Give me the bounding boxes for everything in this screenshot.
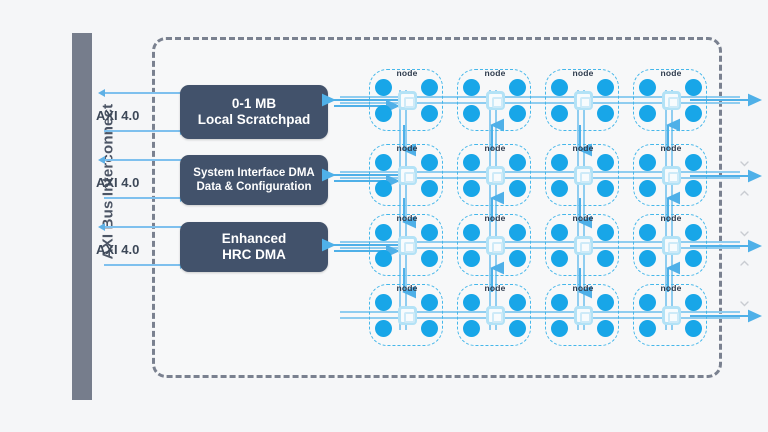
node-cluster-r4c4[interactable]: node bbox=[633, 284, 707, 346]
node-dot bbox=[421, 180, 438, 197]
node-cluster-r1c1[interactable]: node bbox=[369, 69, 443, 131]
node-dot bbox=[639, 224, 656, 241]
node-label: node bbox=[634, 283, 708, 293]
axi-3-label: AXI 4.0 bbox=[96, 242, 168, 257]
node-dot bbox=[509, 224, 526, 241]
node-hub-icon bbox=[486, 91, 505, 110]
node-hub-icon bbox=[662, 236, 681, 255]
node-cluster-r1c4[interactable]: node bbox=[633, 69, 707, 131]
node-cluster-r2c3[interactable]: node bbox=[545, 144, 619, 206]
node-label: node bbox=[458, 143, 532, 153]
node-dot bbox=[685, 180, 702, 197]
node-hub-icon bbox=[662, 91, 681, 110]
node-dot bbox=[597, 180, 614, 197]
node-hub-icon bbox=[398, 166, 417, 185]
block-1-line2: Local Scratchpad bbox=[198, 112, 311, 128]
node-dot bbox=[597, 224, 614, 241]
node-label: node bbox=[458, 283, 532, 293]
node-cluster-r2c1[interactable]: node bbox=[369, 144, 443, 206]
node-dot bbox=[597, 79, 614, 96]
node-cluster-r2c2[interactable]: node bbox=[457, 144, 531, 206]
block-2-line1: System Interface DMA bbox=[193, 166, 314, 180]
node-dot bbox=[551, 79, 568, 96]
axi-3-inbound-line bbox=[104, 226, 182, 228]
node-hub-icon bbox=[662, 306, 681, 325]
node-cluster-r3c1[interactable]: node bbox=[369, 214, 443, 276]
axi-2-outbound-line bbox=[104, 197, 182, 199]
diagram-canvas: AXI Bus Interconnect AXI 4.0 AXI 4.0 AXI… bbox=[0, 0, 768, 432]
block-enhanced-hrc-dma[interactable]: Enhanced HRC DMA bbox=[180, 222, 328, 272]
node-label: node bbox=[546, 143, 620, 153]
node-dot bbox=[597, 105, 614, 122]
node-hub-icon bbox=[662, 166, 681, 185]
node-dot bbox=[509, 79, 526, 96]
chevron-up-icon-1[interactable] bbox=[739, 188, 750, 199]
node-label: node bbox=[370, 213, 444, 223]
node-dot bbox=[421, 105, 438, 122]
node-hub-icon bbox=[398, 91, 417, 110]
node-hub-icon bbox=[574, 166, 593, 185]
node-dot bbox=[639, 79, 656, 96]
node-cluster-r4c1[interactable]: node bbox=[369, 284, 443, 346]
node-label: node bbox=[546, 213, 620, 223]
node-label: node bbox=[634, 143, 708, 153]
block-1-line1: 0-1 MB bbox=[198, 96, 311, 112]
node-dot bbox=[685, 154, 702, 171]
node-label: node bbox=[546, 283, 620, 293]
block-3-line1: Enhanced bbox=[222, 231, 287, 247]
axi-3-outbound-line bbox=[104, 264, 182, 266]
node-dot bbox=[551, 105, 568, 122]
node-cluster-r1c3[interactable]: node bbox=[545, 69, 619, 131]
axi-2-inbound-line bbox=[104, 159, 182, 161]
chevron-up-icon-2[interactable] bbox=[739, 258, 750, 269]
node-dot bbox=[509, 154, 526, 171]
node-dot bbox=[375, 154, 392, 171]
node-cluster-r4c3[interactable]: node bbox=[545, 284, 619, 346]
node-dot bbox=[421, 79, 438, 96]
node-dot bbox=[421, 294, 438, 311]
axi-bus-interconnect-bar: AXI Bus Interconnect bbox=[72, 33, 92, 400]
node-dot bbox=[685, 294, 702, 311]
node-dot bbox=[421, 154, 438, 171]
node-dot bbox=[509, 320, 526, 337]
axi-1-inbound-arrowhead bbox=[98, 89, 105, 97]
node-label: node bbox=[370, 143, 444, 153]
node-dot bbox=[551, 320, 568, 337]
node-dot bbox=[551, 180, 568, 197]
node-dot bbox=[639, 154, 656, 171]
axi-1-label: AXI 4.0 bbox=[96, 108, 168, 123]
node-dot bbox=[509, 294, 526, 311]
axi-1-outbound-line bbox=[104, 130, 182, 132]
node-dot bbox=[375, 320, 392, 337]
node-cluster-r3c2[interactable]: node bbox=[457, 214, 531, 276]
block-local-scratchpad[interactable]: 0-1 MB Local Scratchpad bbox=[180, 85, 328, 139]
node-dot bbox=[639, 180, 656, 197]
axi-1-inbound-line bbox=[104, 92, 182, 94]
node-dot bbox=[551, 250, 568, 267]
node-dot bbox=[509, 250, 526, 267]
node-dot bbox=[463, 154, 480, 171]
node-dot bbox=[685, 250, 702, 267]
node-dot bbox=[509, 105, 526, 122]
node-hub-icon bbox=[398, 236, 417, 255]
node-cluster-r1c2[interactable]: node bbox=[457, 69, 531, 131]
chevron-down-icon-2[interactable] bbox=[739, 228, 750, 239]
block-system-interface-dma[interactable]: System Interface DMA Data & Configuratio… bbox=[180, 155, 328, 205]
node-dot bbox=[375, 105, 392, 122]
chevron-down-icon-3[interactable] bbox=[739, 298, 750, 309]
node-dot bbox=[639, 320, 656, 337]
node-dot bbox=[463, 294, 480, 311]
block-2-line2: Data & Configuration bbox=[193, 180, 314, 194]
node-dot bbox=[551, 294, 568, 311]
node-dot bbox=[639, 294, 656, 311]
node-dot bbox=[597, 320, 614, 337]
node-dot bbox=[597, 154, 614, 171]
axi-interface-group-1: AXI 4.0 bbox=[96, 88, 186, 146]
node-dot bbox=[421, 224, 438, 241]
node-dot bbox=[551, 154, 568, 171]
node-label: node bbox=[458, 213, 532, 223]
node-dot bbox=[421, 250, 438, 267]
node-dot bbox=[685, 105, 702, 122]
node-dot bbox=[421, 320, 438, 337]
node-dot bbox=[551, 224, 568, 241]
node-dot bbox=[463, 250, 480, 267]
node-hub-icon bbox=[486, 166, 505, 185]
node-dot bbox=[463, 180, 480, 197]
block-3-line2: HRC DMA bbox=[222, 247, 287, 263]
node-dot bbox=[463, 320, 480, 337]
node-cluster-r4c2[interactable]: node bbox=[457, 284, 531, 346]
node-dot bbox=[463, 105, 480, 122]
node-dot bbox=[375, 224, 392, 241]
node-dot bbox=[375, 180, 392, 197]
node-label: node bbox=[370, 283, 444, 293]
axi-interface-group-2: AXI 4.0 bbox=[96, 155, 186, 213]
axi-2-inbound-arrowhead bbox=[98, 156, 105, 164]
node-cluster-r3c4[interactable]: node bbox=[633, 214, 707, 276]
node-dot bbox=[375, 250, 392, 267]
node-label: node bbox=[370, 68, 444, 78]
node-dot bbox=[463, 79, 480, 96]
node-hub-icon bbox=[574, 236, 593, 255]
node-dot bbox=[639, 105, 656, 122]
node-dot bbox=[509, 180, 526, 197]
node-dot bbox=[375, 294, 392, 311]
node-dot bbox=[375, 79, 392, 96]
chevron-down-icon-1[interactable] bbox=[739, 158, 750, 169]
node-dot bbox=[685, 320, 702, 337]
node-hub-icon bbox=[486, 306, 505, 325]
node-label: node bbox=[634, 213, 708, 223]
node-label: node bbox=[546, 68, 620, 78]
node-hub-icon bbox=[574, 306, 593, 325]
node-dot bbox=[685, 79, 702, 96]
node-hub-icon bbox=[398, 306, 417, 325]
node-dot bbox=[597, 294, 614, 311]
axi-3-inbound-arrowhead bbox=[98, 223, 105, 231]
axi-interface-group-3: AXI 4.0 bbox=[96, 222, 186, 280]
node-hub-icon bbox=[486, 236, 505, 255]
node-dot bbox=[639, 250, 656, 267]
axi-2-label: AXI 4.0 bbox=[96, 175, 168, 190]
node-label: node bbox=[634, 68, 708, 78]
node-hub-icon bbox=[574, 91, 593, 110]
node-label: node bbox=[458, 68, 532, 78]
node-dot bbox=[463, 224, 480, 241]
node-dot bbox=[597, 250, 614, 267]
node-cluster-r2c4[interactable]: node bbox=[633, 144, 707, 206]
node-cluster-r3c3[interactable]: node bbox=[545, 214, 619, 276]
node-dot bbox=[685, 224, 702, 241]
